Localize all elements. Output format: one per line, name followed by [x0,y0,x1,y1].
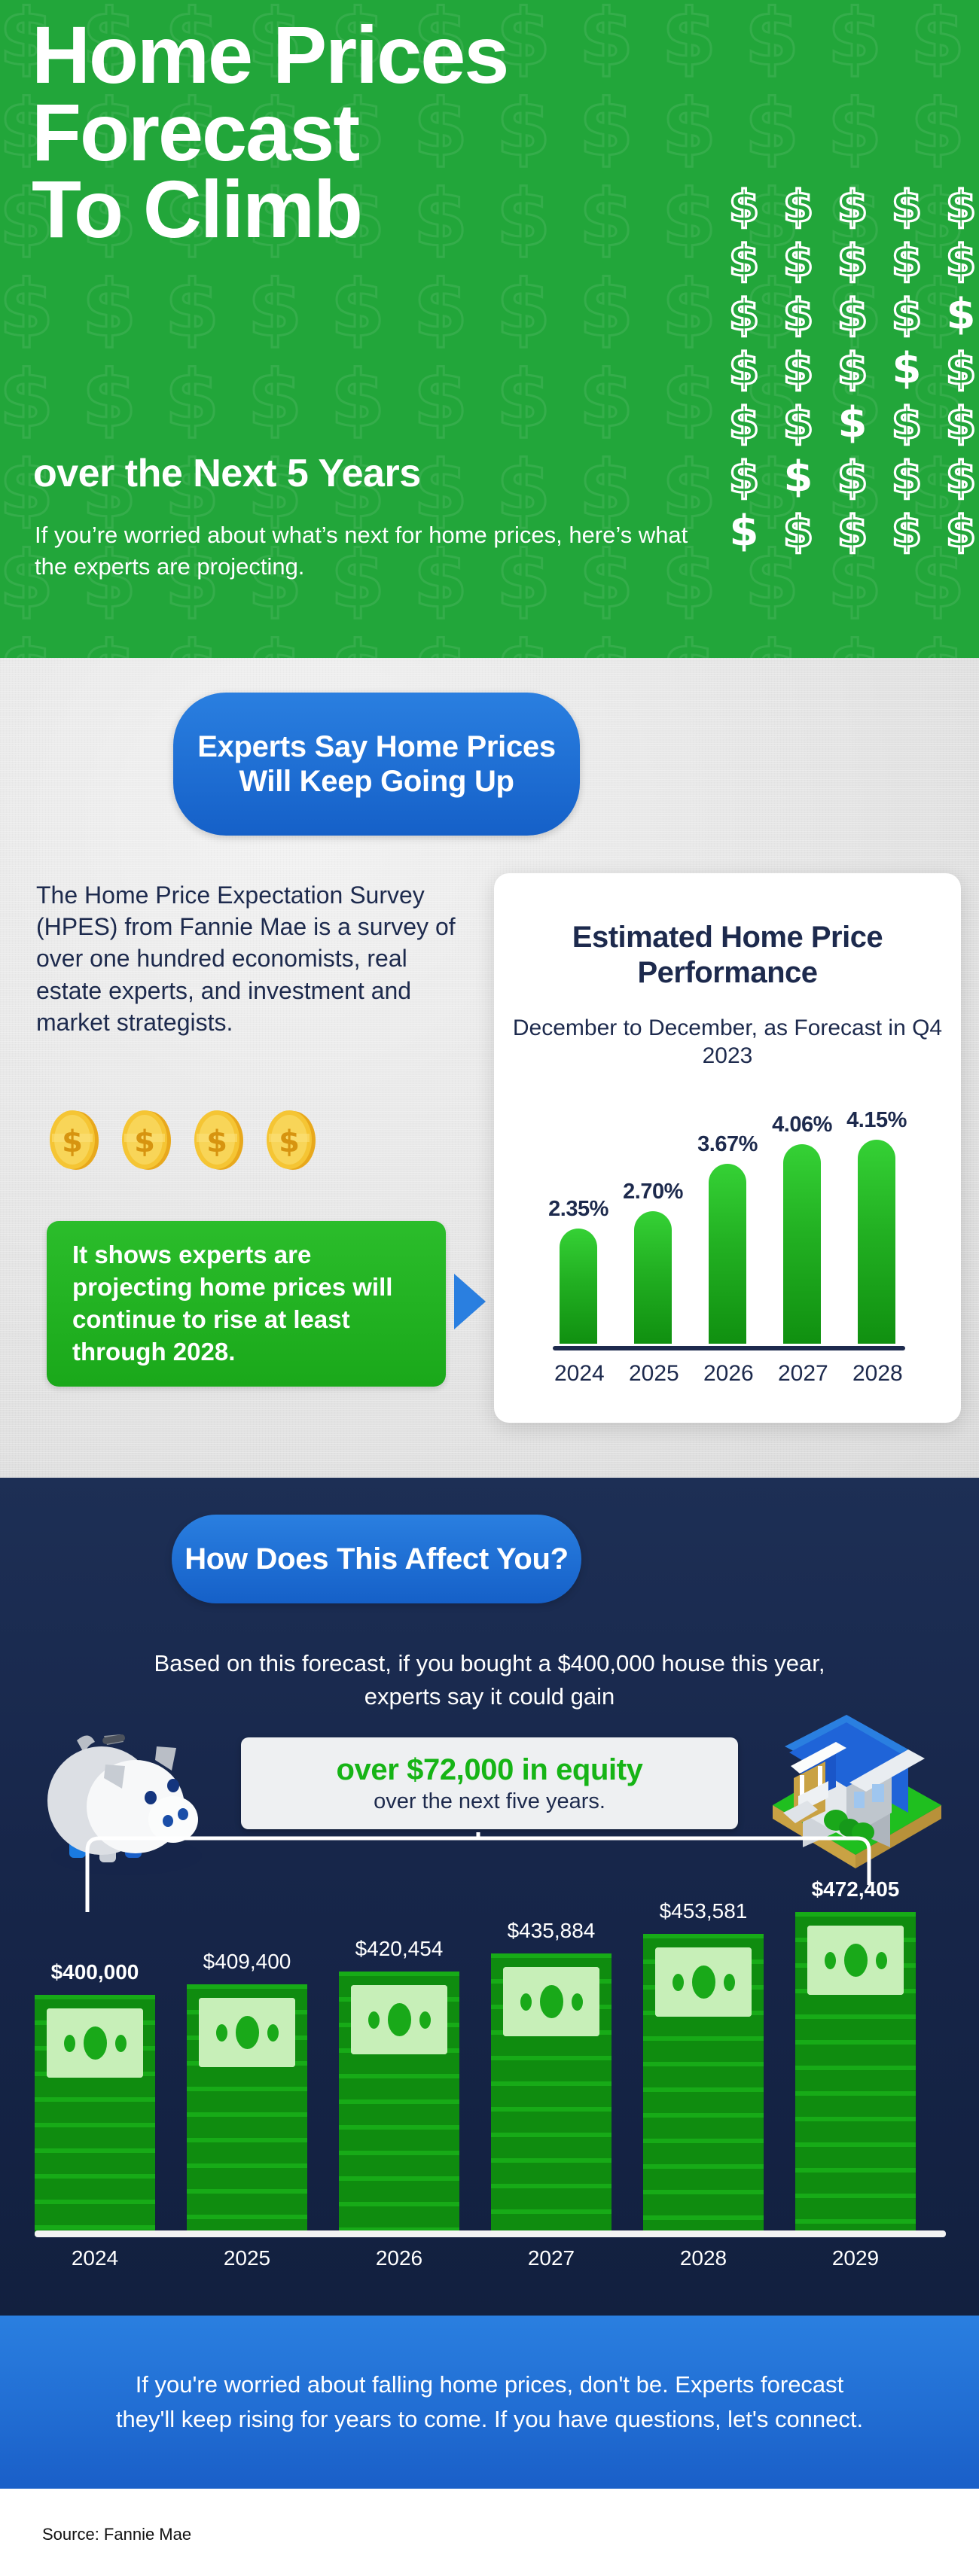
dollar-sign-icon: $ [717,450,771,504]
dollar-sign-icon: $ [771,450,825,504]
dollar-sign-icon: $ [233,625,316,658]
money-chart-x-labels: 202420252026202720282029 [35,2246,946,2279]
bar-value-label: 3.67% [697,1132,758,1157]
dollar-sign-icon: $ [825,342,880,396]
dollar-sign-icon: $ [151,263,233,354]
dollar-sign-icon: $ [399,625,482,658]
money-value-label: $453,581 [621,1899,786,1923]
dollar-sign-icon: $ [482,625,565,658]
x-tick-label: 2027 [778,1361,826,1387]
dollar-sign-icon: $ [880,342,934,396]
infographic-page: $$$$$$$$$$$$$$$$$$$$$$$$$$$$$$$$$$$$$$$$… [0,0,979,2576]
dollar-sign-icon: $ [68,625,151,658]
dollar-sign-icon: $ [717,504,771,559]
money-bar-column: $435,884 [491,1953,611,2236]
dollar-sign-icon: $ [880,450,934,504]
money-bar-column: $400,000 [35,1995,155,2236]
dollar-sign-icon: $ [934,504,979,559]
dollar-sign-icon: $ [825,396,880,450]
dollar-sign-icon: $ [771,396,825,450]
gold-coin-icon: $ [190,1108,249,1171]
svg-text:$: $ [62,1125,83,1159]
gold-coin-icon: $ [45,1108,104,1171]
dollar-sign-icon: $ [934,450,979,504]
bar-value-label: 2.35% [548,1197,608,1222]
dollar-sign-icon: $ [771,233,825,288]
page-title: Home Prices Forecast To Climb [32,17,822,248]
coin-row: $$$$ [45,1108,321,1171]
dollar-sign-icon: $ [934,179,979,233]
dollar-sign-icon: $ [896,625,979,658]
x-tick-label: 2025 [629,1361,677,1387]
dollar-sign-icon: $ [880,179,934,233]
arrow-right-icon [454,1274,486,1329]
chart-title: Estimated Home Price Performance [494,920,961,991]
dollar-sign-icon: $ [813,83,896,173]
dollar-sign-icon: $ [934,396,979,450]
dollar-sign-icon: $ [880,233,934,288]
dollar-sign-icon: $ [825,504,880,559]
svg-text:$: $ [206,1125,227,1159]
dollar-sign-icon: $ [896,83,979,173]
chart-subtitle: December to December, as Forecast in Q4 … [494,1015,961,1070]
equity-highlight-box: over $72,000 in equity over the next fiv… [241,1737,738,1829]
x-tick-label: 2026 [339,2246,459,2270]
dollar-sign-icon: $ [825,288,880,342]
dollar-sign-icon: $ [880,288,934,342]
dollar-sign-icon: $ [771,342,825,396]
dollar-sign-icon: $ [717,288,771,342]
svg-text:$: $ [279,1125,300,1159]
bar-column: 2.35% [554,1092,602,1344]
money-value-label: $435,884 [468,1919,634,1943]
dollar-bill-icon [47,2008,143,2078]
percent-bar-group: 2.35%2.70%3.67%4.06%4.15% [554,1092,901,1344]
dollar-sign-icon: $ [233,263,316,354]
source-attribution: Source: Fannie Mae [42,2525,191,2544]
experts-heading-pill: Experts Say Home Prices Will Keep Going … [173,693,580,836]
bar [560,1229,597,1344]
dollar-sign-icon: $ [399,354,482,444]
footer-cta: If you're worried about falling home pri… [0,2316,979,2489]
money-chart-baseline [35,2230,946,2237]
dollar-sign-icon: $ [825,179,880,233]
dollar-sign-icon: $ [896,0,979,83]
bar-column: 3.67% [703,1092,752,1344]
chart-x-tick-labels: 20242025202620272028 [554,1361,901,1387]
dollar-sign-icon: $ [565,354,648,444]
dollar-sign-icon: $ [717,396,771,450]
dollar-sign-icon: $ [825,450,880,504]
dollar-sign-icon: $ [771,504,825,559]
bar [783,1144,821,1344]
bar-value-label: 4.06% [772,1113,832,1137]
affect-heading-pill: How Does This Affect You? [172,1515,581,1603]
dollar-sign-icon: $ [934,342,979,396]
title-line-3: To Climb [32,171,822,248]
x-tick-label: 2028 [643,2246,764,2270]
x-tick-label: 2029 [795,2246,916,2270]
dollar-sign-icon: $ [233,354,316,444]
dollar-bill-icon [199,1998,295,2067]
x-tick-label: 2024 [35,2246,155,2270]
dollar-sign-icon: $ [68,263,151,354]
svg-text:$: $ [134,1125,155,1159]
equity-amount: over $72,000 in equity [337,1753,643,1787]
bar-value-label: 2.70% [623,1180,683,1204]
dollar-bill-icon [807,1926,904,1995]
hero-body-text: If you’re worried about what’s next for … [35,519,697,583]
dollar-sign-icon: $ [771,179,825,233]
bar-column: 4.15% [852,1092,901,1344]
x-tick-label: 2025 [187,2246,307,2270]
gold-coin-icon: $ [262,1108,321,1171]
dollar-sign-icon: $ [482,263,565,354]
bar-value-label: 4.15% [846,1108,907,1133]
money-value-label: $472,405 [773,1877,938,1902]
dollar-sign-icon: $ [482,354,565,444]
dollar-sign-icon: $ [771,288,825,342]
money-value-label: $409,400 [164,1950,330,1974]
dollar-sign-icon: $ [0,354,68,444]
affect-intro-text: Based on this forecast, if you bought a … [128,1647,851,1713]
dollar-bill-icon [503,1967,599,2036]
hero-section: $$$$$$$$$$$$$$$$$$$$$$$$$$$$$$$$$$$$$$$$… [0,0,979,658]
x-tick-label: 2026 [703,1361,752,1387]
dollar-sign-icon: $ [151,354,233,444]
dollar-sign-icon: $ [0,263,68,354]
money-bar-column: $409,400 [187,1984,307,2236]
dollar-sign-icon: $ [151,625,233,658]
hpes-paragraph: The Home Price Expectation Survey (HPES)… [36,879,465,1038]
dollar-sign-icon: $ [68,354,151,444]
money-bar-column: $472,405 [795,1912,916,2236]
money-value-label: $420,454 [316,1937,482,1961]
money-bar-column: $453,581 [643,1934,764,2236]
dollar-sign-icon: $ [717,179,771,233]
dollar-sign-icon: $ [316,354,399,444]
dollar-sign-icon: $ [316,625,399,658]
dollar-sign-icon: $ [730,625,813,658]
x-tick-label: 2028 [852,1361,901,1387]
title-line-2: Forecast [32,94,822,172]
bar [709,1164,746,1344]
dollar-sign-grid: $$$$$$$$$$$$$$$$$$$$$$$$$$$$$$$$$$$ [717,179,979,559]
bar-column: 2.70% [629,1092,677,1344]
dollar-sign-icon: $ [825,233,880,288]
dollar-sign-icon: $ [813,625,896,658]
dollar-sign-icon: $ [880,396,934,450]
equity-timeframe: over the next five years. [374,1789,605,1814]
dollar-sign-icon: $ [934,233,979,288]
dollar-sign-icon: $ [0,625,68,658]
bar [858,1140,895,1344]
money-value-label: $400,000 [12,1960,178,1984]
money-bar-column: $420,454 [339,1972,459,2236]
title-line-1: Home Prices [32,17,822,94]
estimated-price-chart-card: Estimated Home Price Performance Decembe… [494,873,961,1423]
x-tick-label: 2024 [554,1361,602,1387]
experts-callout-box: It shows experts are projecting home pri… [47,1221,446,1387]
money-bar-chart: $400,000$409,400$420,454$435,884$453,581… [35,1912,946,2236]
dollar-sign-icon: $ [648,625,730,658]
bar-column: 4.06% [778,1092,826,1344]
dollar-bill-icon [351,1985,447,2054]
dollar-bill-icon [655,1947,752,2017]
hero-subtitle: over the Next 5 Years [33,453,771,495]
dollar-sign-icon: $ [934,288,979,342]
footer-text: If you're worried about falling home pri… [113,2367,866,2437]
dollar-sign-icon: $ [880,504,934,559]
dollar-sign-icon: $ [565,263,648,354]
dollar-sign-icon: $ [316,263,399,354]
bar [634,1211,672,1344]
chart-axis-line [553,1346,905,1350]
dollar-sign-icon: $ [717,342,771,396]
x-tick-label: 2027 [491,2246,611,2270]
dollar-sign-icon: $ [399,263,482,354]
gold-coin-icon: $ [117,1108,176,1171]
dollar-sign-icon: $ [813,0,896,83]
dollar-sign-icon: $ [565,625,648,658]
dollar-sign-icon: $ [717,233,771,288]
